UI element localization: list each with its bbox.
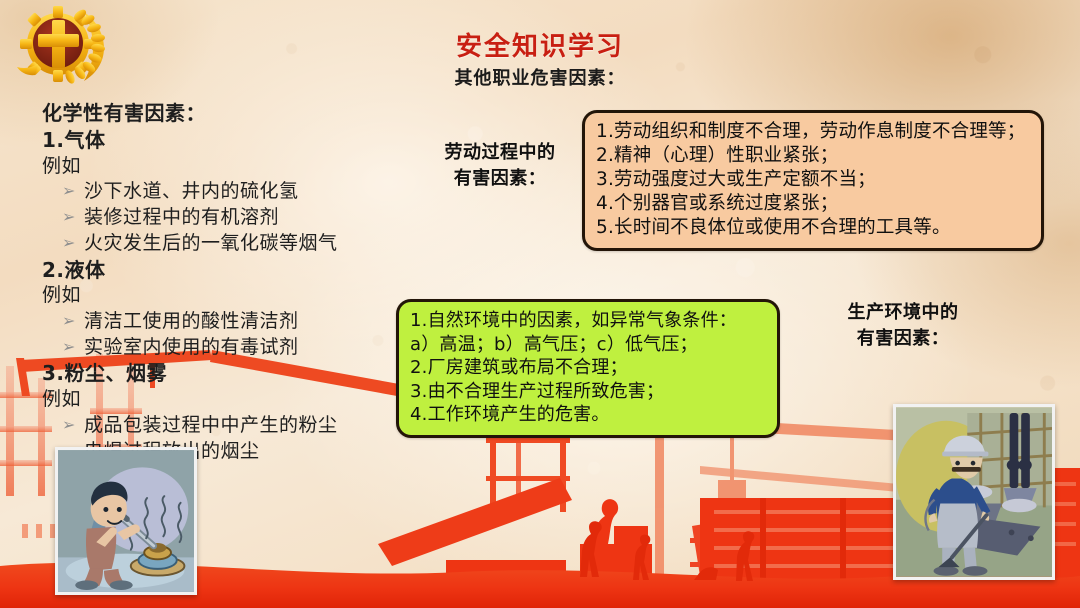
- section-2-example-label: 例如: [42, 283, 392, 308]
- slide-canvas: 安全知识学习 其他职业危害因素： 化学性有害因素： 1.气体 例如 ➢ 沙下水道…: [0, 0, 1080, 608]
- bullet-arrow-icon: ➢: [62, 231, 84, 256]
- list-item-label: 沙下水道、井内的硫化氢: [84, 179, 392, 205]
- list-item-label: 火灾发生后的一氧化碳等烟气: [84, 231, 392, 257]
- production-environment-hazards-box: 1.自然环境中的因素，如异常气象条件： a）高温；b）高气压；c）低气压； 2.…: [396, 299, 780, 438]
- worker-floor-polisher-illustration: [55, 447, 197, 595]
- list-item: ➢ 装修过程中的有机溶剂: [42, 205, 392, 231]
- section-1-title: 1.气体: [42, 127, 392, 154]
- callout-label-line1: 生产环境中的: [798, 300, 1008, 326]
- list-item-label: 成品包装过程中中产生的粉尘: [84, 413, 392, 439]
- worker-hardhat-industrial-illustration: [893, 404, 1055, 580]
- list-item: ➢ 沙下水道、井内的硫化氢: [42, 179, 392, 205]
- list-item-label: 装修过程中的有机溶剂: [84, 205, 392, 231]
- box-line: 3.劳动强度过大或生产定额不当；: [596, 168, 1030, 192]
- callout-label-line1: 劳动过程中的: [400, 140, 600, 166]
- bullet-arrow-icon: ➢: [62, 309, 84, 334]
- list-item: ➢ 清洁工使用的酸性清洁剂: [42, 309, 392, 335]
- box-line: a）高温；b）高气压；c）低气压；: [410, 333, 766, 357]
- list-item: ➢ 火灾发生后的一氧化碳等烟气: [42, 231, 392, 257]
- left-text-column: 化学性有害因素： 1.气体 例如 ➢ 沙下水道、井内的硫化氢 ➢ 装修过程中的有…: [42, 100, 392, 464]
- box-line: 2.精神（心理）性职业紧张；: [596, 144, 1030, 168]
- box-line: 4.个别器官或系统过度紧张；: [596, 192, 1030, 216]
- box-line: 5.长时间不良体位或使用不合理的工具等。: [596, 216, 1030, 240]
- section-2-title: 2.液体: [42, 257, 392, 284]
- left-heading: 化学性有害因素：: [42, 100, 392, 127]
- callout-label-line2: 有害因素：: [400, 166, 600, 192]
- section-3-title: 3.粉尘、烟雾: [42, 360, 392, 387]
- list-item: ➢ 成品包装过程中中产生的粉尘: [42, 413, 392, 439]
- callout-label-labour-process: 劳动过程中的 有害因素：: [400, 140, 600, 192]
- callout-label-production-environment: 生产环境中的 有害因素：: [798, 300, 1008, 352]
- page-title: 安全知识学习: [0, 26, 1080, 63]
- box-line: 2.厂房建筑或布局不合理；: [410, 356, 766, 380]
- page-subtitle: 其他职业危害因素：: [0, 64, 1080, 90]
- slanted-beam: [378, 478, 572, 566]
- bullet-arrow-icon: ➢: [62, 179, 84, 204]
- section-3-example-label: 例如: [42, 387, 392, 412]
- labour-process-hazards-box: 1.劳动组织和制度不合理，劳动作息制度不合理等； 2.精神（心理）性职业紧张； …: [582, 110, 1044, 251]
- box-line: 1.劳动组织和制度不合理，劳动作息制度不合理等；: [596, 120, 1030, 144]
- list-item-label: 实验室内使用的有毒试剂: [84, 335, 392, 361]
- list-item: ➢ 实验室内使用的有毒试剂: [42, 335, 392, 361]
- section-1-example-label: 例如: [42, 154, 392, 179]
- box-line: 4.工作环境产生的危害。: [410, 403, 766, 427]
- list-item-label: 清洁工使用的酸性清洁剂: [84, 309, 392, 335]
- callout-label-line2: 有害因素：: [798, 326, 1008, 352]
- box-line: 3.由不合理生产过程所致危害；: [410, 380, 766, 404]
- box-line: 1.自然环境中的因素，如异常气象条件：: [410, 309, 766, 333]
- bullet-arrow-icon: ➢: [62, 335, 84, 360]
- bullet-arrow-icon: ➢: [62, 205, 84, 230]
- bullet-arrow-icon: ➢: [62, 413, 84, 438]
